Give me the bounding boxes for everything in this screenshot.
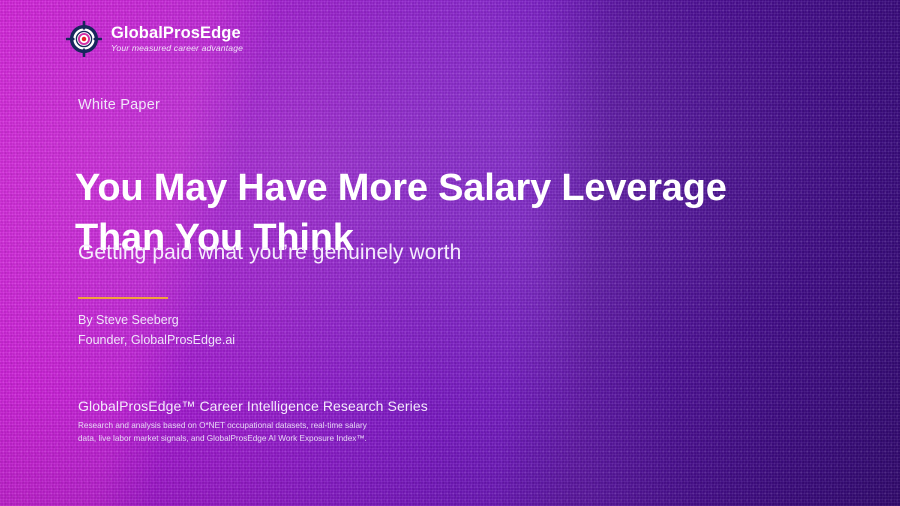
- brand-name: GlobalProsEdge: [111, 25, 243, 42]
- document-type-eyebrow: White Paper: [78, 97, 160, 113]
- white-paper-cover-slide: GlobalProsEdge Your measured career adva…: [0, 0, 900, 506]
- accent-divider: [78, 297, 168, 299]
- research-series-label: GlobalProsEdge™ Career Intelligence Rese…: [78, 398, 428, 414]
- page-title-line-1: You May Have More Salary Leverage: [75, 167, 727, 209]
- slide-content: GlobalProsEdge Your measured career adva…: [0, 0, 900, 506]
- footer-disclaimer-line-1: Research and analysis based on O*NET occ…: [78, 420, 408, 433]
- brand-logo-lockup[interactable]: GlobalProsEdge Your measured career adva…: [66, 21, 243, 57]
- footer-disclaimer-line-2: data, live labor market signals, and Glo…: [78, 433, 408, 446]
- brand-text-block: GlobalProsEdge Your measured career adva…: [111, 25, 243, 53]
- brand-tagline: Your measured career advantage: [111, 44, 243, 53]
- author-name: By Steve Seeberg: [78, 313, 179, 327]
- target-crosshair-icon: [66, 21, 102, 57]
- footer-disclaimer: Research and analysis based on O*NET occ…: [78, 420, 408, 445]
- author-role: Founder, GlobalProsEdge.ai: [78, 330, 235, 350]
- author-block: By Steve Seeberg Founder, GlobalProsEdge…: [78, 310, 235, 350]
- page-subtitle: Getting paid what you’re genuinely worth: [78, 241, 461, 265]
